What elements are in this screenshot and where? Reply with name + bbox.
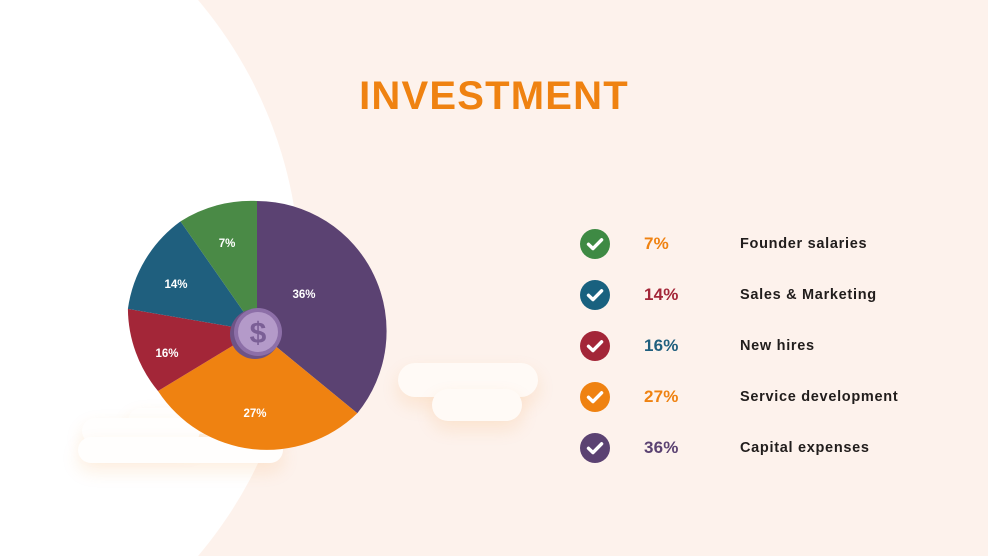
coin-dollar-glyph: $: [250, 317, 267, 350]
check-circle-icon: [580, 331, 610, 361]
legend-row-new-hires[interactable]: 16% New hires: [580, 320, 940, 371]
legend-label: Capital expenses: [740, 440, 870, 456]
legend-percent: 7%: [644, 234, 740, 254]
legend-label: Service development: [740, 389, 898, 405]
pie-label-capital-expenses: 36%: [292, 289, 315, 301]
legend-label: Sales & Marketing: [740, 287, 877, 303]
check-circle-icon: [580, 433, 610, 463]
legend-row-capital-expenses[interactable]: 36% Capital expenses: [580, 422, 940, 473]
legend-label: New hires: [740, 338, 815, 354]
page-title: INVESTMENT: [0, 74, 988, 119]
legend-percent: 16%: [644, 336, 740, 356]
check-circle-icon: [580, 280, 610, 310]
legend-percent: 14%: [644, 285, 740, 305]
pie-chart: 36% 27% 16% 14% 7% $: [122, 196, 392, 466]
check-circle-icon: [580, 382, 610, 412]
deco-bar-right-lower: [432, 389, 522, 421]
legend: 7% Founder salaries 14% Sales & Marketin…: [580, 218, 940, 473]
legend-row-service-development[interactable]: 27% Service development: [580, 371, 940, 422]
legend-row-founder-salaries[interactable]: 7% Founder salaries: [580, 218, 940, 269]
legend-row-sales-marketing[interactable]: 14% Sales & Marketing: [580, 269, 940, 320]
legend-percent: 36%: [644, 438, 740, 458]
pie-label-service-development: 27%: [243, 408, 266, 420]
pie-label-sales-marketing: 14%: [164, 279, 187, 291]
legend-label: Founder salaries: [740, 236, 867, 252]
slide-canvas: INVESTMENT 36% 27% 16% 14% 7%: [0, 0, 988, 556]
check-circle-icon: [580, 229, 610, 259]
pie-label-new-hires: 16%: [155, 348, 178, 360]
deco-bar-right-upper: [398, 363, 538, 397]
pie-chart-svg: 36% 27% 16% 14% 7% $: [122, 196, 392, 466]
legend-percent: 27%: [644, 387, 740, 407]
pie-label-founder-salaries: 7%: [219, 238, 236, 250]
